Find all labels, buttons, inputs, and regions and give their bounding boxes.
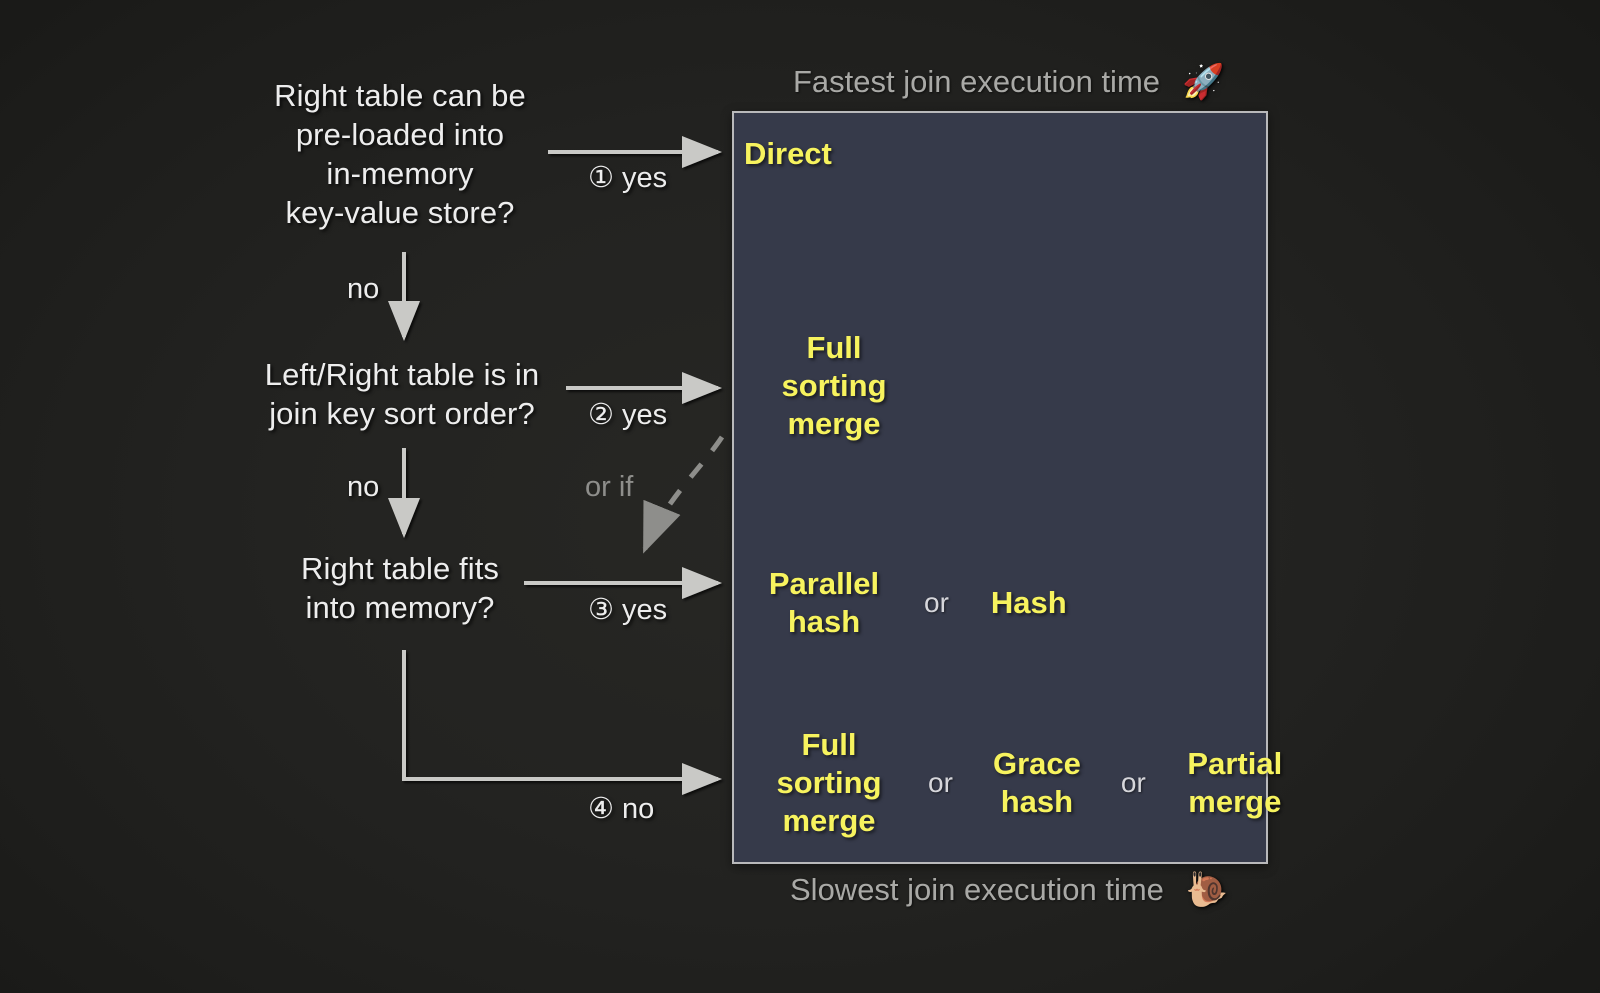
snail-emoji: 🐌	[1186, 873, 1228, 907]
edge-q3-no	[404, 650, 718, 779]
caption-slowest-text: Slowest join execution time	[790, 872, 1164, 908]
algo-full-sorting-merge: Full sorting merge	[781, 329, 886, 443]
caption-fastest: Fastest join execution time 🚀	[793, 64, 1224, 100]
edge-label-no-4: ④ no	[588, 792, 654, 826]
edge-label-yes-3: ③ yes	[588, 593, 667, 627]
algo-partial-merge: Partial merge	[1160, 745, 1310, 821]
result-panel: Direct Full sorting merge Parallel hash …	[732, 111, 1268, 864]
edge-label-or-if: or if	[585, 470, 633, 504]
edge-label-yes-2: ② yes	[588, 398, 667, 432]
edge-label-no-1: no	[347, 272, 379, 306]
result-row-full-sorting-merge: Full sorting merge	[744, 329, 924, 443]
algo-parallel-hash: Parallel hash	[744, 565, 904, 641]
diagram-canvas: Fastest join execution time 🚀 Slowest jo…	[0, 0, 1600, 993]
rocket-emoji: 🚀	[1182, 65, 1224, 99]
algo-direct: Direct	[744, 135, 832, 173]
question-sort-order: Left/Right table is in join key sort ord…	[222, 355, 582, 433]
algo-hash: Hash	[969, 584, 1067, 622]
conjunction-or-3: or	[1107, 766, 1160, 800]
result-row-fallbacks: Full sorting merge or Grace hash or Part…	[744, 726, 1310, 840]
question-fits-memory: Right table fits into memory?	[250, 549, 550, 627]
result-row-parallel-hash: Parallel hash or Hash	[744, 565, 1067, 641]
algo-full-sorting-merge-alt: Full sorting merge	[744, 726, 914, 840]
conjunction-or-2: or	[914, 766, 967, 800]
result-row-direct: Direct	[744, 135, 832, 173]
edge-or-if-dashed	[645, 437, 722, 549]
edge-label-yes-1: ① yes	[588, 161, 667, 195]
conjunction-or-1: or	[904, 586, 969, 620]
algo-grace-hash: Grace hash	[967, 745, 1107, 821]
edge-label-no-2: no	[347, 470, 379, 504]
caption-slowest: Slowest join execution time 🐌	[790, 872, 1228, 908]
question-kv-store: Right table can be pre-loaded into in-me…	[230, 76, 570, 232]
caption-fastest-text: Fastest join execution time	[793, 64, 1160, 100]
